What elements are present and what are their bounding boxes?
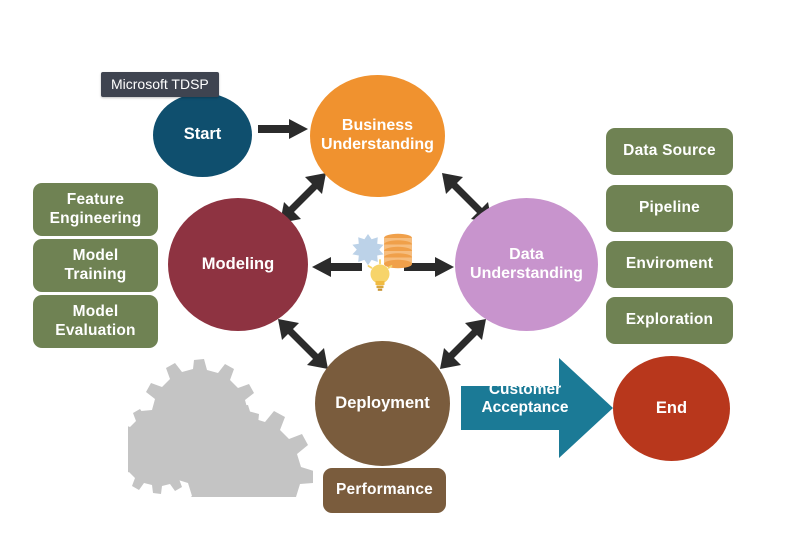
stage-end-label: End (656, 399, 687, 418)
tdsp-lifecycle-diagram: Start Business Understanding Modeling Da… (0, 0, 800, 547)
gear-burst-icon (352, 234, 383, 265)
task-data-source[interactable]: Data Source (606, 128, 733, 175)
arrow-start-to-business (258, 117, 312, 141)
stage-deployment-label: Deployment (335, 394, 429, 413)
task-feature-engineering[interactable]: Feature Engineering (33, 183, 158, 236)
customer-acceptance-arrow[interactable] (461, 358, 613, 458)
task-enviroment[interactable]: Enviroment (606, 241, 733, 288)
decorative-gears-icon (128, 352, 313, 497)
task-model-evaluation-label: Model Evaluation (55, 303, 135, 340)
stage-business-understanding-label: Business Understanding (321, 117, 434, 155)
task-pipeline[interactable]: Pipeline (606, 185, 733, 232)
task-feature-engineering-label: Feature Engineering (50, 191, 142, 228)
center-icon-cluster (352, 230, 414, 292)
task-model-training-label: Model Training (65, 247, 127, 284)
stage-data-understanding-label: Data Understanding (470, 246, 583, 284)
task-data-source-label: Data Source (623, 142, 716, 160)
task-pipeline-label: Pipeline (639, 199, 700, 217)
stage-start[interactable]: Start (153, 93, 252, 177)
task-model-training[interactable]: Model Training (33, 239, 158, 292)
task-performance[interactable]: Performance (323, 468, 446, 513)
microsoft-tdsp-badge: Microsoft TDSP (101, 72, 219, 97)
stage-modeling[interactable]: Modeling (168, 198, 308, 331)
microsoft-tdsp-badge-label: Microsoft TDSP (111, 76, 209, 92)
stage-business-understanding[interactable]: Business Understanding (310, 75, 445, 197)
task-exploration-label: Exploration (626, 311, 713, 329)
stage-data-understanding[interactable]: Data Understanding (455, 198, 598, 331)
stage-modeling-label: Modeling (202, 255, 274, 274)
task-enviroment-label: Enviroment (626, 255, 713, 273)
stage-end[interactable]: End (613, 356, 730, 461)
task-exploration[interactable]: Exploration (606, 297, 733, 344)
task-performance-label: Performance (336, 481, 433, 499)
stage-start-label: Start (184, 125, 222, 144)
task-model-evaluation[interactable]: Model Evaluation (33, 295, 158, 348)
database-stack-icon (384, 234, 412, 268)
stage-deployment[interactable]: Deployment (315, 341, 450, 466)
